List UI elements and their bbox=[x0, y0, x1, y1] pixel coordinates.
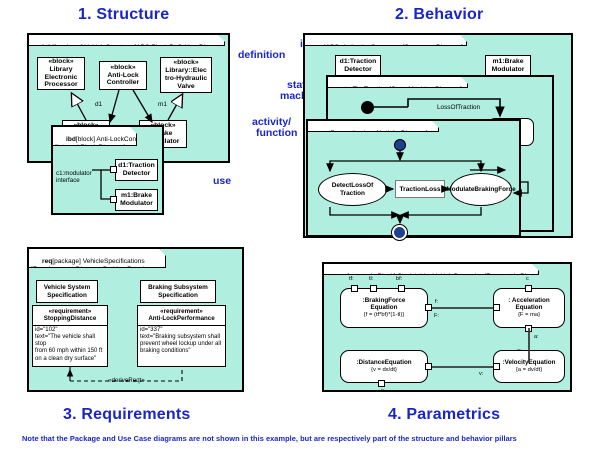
sd-lifeline-1-name: m1:Brake Modulator bbox=[492, 58, 525, 74]
req-item-1-name: Anti-LockPerformance bbox=[139, 315, 224, 322]
par-port-label-bf: bf: bbox=[396, 276, 402, 282]
bdd-block-2-name: Library::Elec tro-Hydraulic Valve bbox=[165, 67, 207, 90]
bdd-edge-label-m1: m1 bbox=[158, 101, 167, 108]
activity-object-node-traction-loss[interactable]: TractionLoss bbox=[395, 180, 445, 198]
par-port-tf[interactable] bbox=[351, 285, 358, 292]
annotation-definition: definition bbox=[238, 50, 285, 62]
par-constraint-1-equation: {F = ma} bbox=[518, 312, 540, 320]
bdd-block-0-name: Library Electronic Processor bbox=[44, 66, 77, 89]
requirement-stopping-distance[interactable]: «requirement» StoppingDistance id="102" … bbox=[32, 305, 108, 367]
bdd-header-text: [package] VehicleStructure [ABS-Block De… bbox=[54, 44, 226, 51]
req-item-0-head: «requirement» StoppingDistance bbox=[33, 306, 107, 326]
ibd-port-traction[interactable] bbox=[110, 166, 117, 173]
bdd-block-2-stereotype: «block» bbox=[173, 59, 198, 67]
pillar-title-requirements: 3. Requirements bbox=[63, 406, 190, 424]
sd-lifeline-0-name: d1:Traction Detector bbox=[340, 58, 377, 74]
req-package-1-name: Braking Subsystem Specification bbox=[148, 284, 208, 299]
activity-object-node-label: TractionLoss bbox=[399, 186, 440, 193]
par-constraint-3-name: :VelocityEquation bbox=[503, 359, 556, 367]
par-port-f-out[interactable] bbox=[425, 304, 432, 311]
req-item-1-head: «requirement» Anti-LockPerformance bbox=[138, 306, 225, 326]
bdd-block-anti-lock-controller[interactable]: «block» Anti-Lock Controller bbox=[99, 61, 147, 90]
par-port-label-c: c bbox=[526, 276, 529, 282]
par-port-tl[interactable] bbox=[370, 285, 377, 292]
activity-initial-node-icon bbox=[394, 139, 406, 151]
diagram-canvas: 1. Structure 2. Behavior 3. Requirements… bbox=[0, 0, 600, 450]
par-header-text: [constraintBlock] StraightLineVehicleDyn… bbox=[347, 273, 547, 280]
par-port-v-right[interactable] bbox=[493, 363, 500, 370]
par-port-c[interactable] bbox=[525, 285, 532, 292]
par-binding-label-a-upper: a: bbox=[534, 334, 539, 340]
bdd-kind: bdd bbox=[42, 44, 54, 51]
sequence-lifeline-head-brake-modulator[interactable]: m1:Brake Modulator bbox=[485, 55, 531, 77]
bdd-edge-label-d1: d1 bbox=[95, 101, 102, 108]
par-port-label-tl: tl: bbox=[369, 276, 373, 282]
bdd-block-1-stereotype: «block» bbox=[110, 64, 135, 72]
par-port-label-tf: tf: bbox=[349, 276, 354, 282]
act-kind: act bbox=[321, 130, 331, 137]
constraint-velocity-equation[interactable]: :VelocityEquation {a = dv/dt} bbox=[493, 350, 565, 383]
activity-action-detect-loss-of-traction[interactable]: DetectLossOf Traction bbox=[318, 173, 387, 206]
par-constraint-0-name: :BrakingForce Equation bbox=[363, 297, 406, 312]
ibd-part-traction-detector[interactable]: d1:Traction Detector bbox=[115, 159, 158, 181]
par-port-x[interactable] bbox=[378, 380, 385, 387]
activity-final-node-icon bbox=[394, 227, 405, 238]
ibd-part-1-name: m1:Brake Modulator bbox=[120, 192, 153, 208]
stm-frame-header: stmTireTraction [State Machine Diagram] bbox=[328, 77, 468, 88]
annotation-activity-2: function bbox=[256, 128, 297, 140]
par-binding-label-F: F: bbox=[434, 313, 439, 319]
bdd-block-electro-hydraulic-valve[interactable]: «block» Library::Elec tro-Hydraulic Valv… bbox=[160, 57, 212, 93]
requirements-package-braking-subsystem[interactable]: Braking Subsystem Specification bbox=[140, 280, 216, 303]
pillar-title-structure: 1. Structure bbox=[78, 6, 169, 24]
pillar-title-parametrics: 4. Parametrics bbox=[388, 406, 500, 424]
stm-kind: stm bbox=[341, 86, 353, 93]
ibd-port-label: c1:modulator interface bbox=[56, 170, 92, 184]
constraint-braking-force-equation[interactable]: :BrakingForce Equation {f = (tf*bf)*(1-t… bbox=[340, 288, 428, 328]
req-item-0-name: StoppingDistance bbox=[34, 315, 106, 322]
stm-initial-node-icon bbox=[361, 101, 374, 114]
requirements-package-vehicle-system[interactable]: Vehicle System Specification bbox=[36, 280, 98, 303]
bdd-block-0-stereotype: «block» bbox=[48, 58, 73, 66]
req-item-1-stereotype: «requirement» bbox=[139, 308, 224, 315]
requirement-anti-lock-performance[interactable]: «requirement» Anti-LockPerformance id="3… bbox=[137, 305, 226, 367]
activity-action-modulate-braking-force[interactable]: ModulateBrakingForce bbox=[450, 173, 512, 206]
stm-header-text: TireTraction [State Machine Diagram] bbox=[353, 86, 462, 93]
par-kind: par bbox=[337, 273, 347, 280]
par-constraint-2-equation: {v = dx/dt} bbox=[371, 367, 397, 375]
par-port-label-f: f: bbox=[435, 299, 438, 305]
req-item-1-body: id="337" text="Braking subsystem shall p… bbox=[138, 326, 225, 357]
pillar-title-behavior: 2. Behavior bbox=[395, 6, 483, 24]
constraint-acceleration-equation[interactable]: : Acceleration Equation {F = ma} bbox=[493, 288, 565, 328]
constraint-distance-equation[interactable]: :DistanceEquation {v = dx/dt} bbox=[340, 350, 428, 383]
par-port-label-x: x bbox=[381, 388, 384, 394]
req-header-text: [package] VehicleSpecifications [Require… bbox=[31, 258, 170, 273]
bdd-block-library-electronic-processor[interactable]: «block» Library Electronic Processor bbox=[37, 57, 85, 90]
bdd-frame-header: bdd[package] VehicleStructure [ABS-Block… bbox=[29, 35, 225, 46]
activity-action-1-name: ModulateBrakingForce bbox=[446, 186, 515, 193]
par-constraint-1-name: : Acceleration Equation bbox=[508, 297, 549, 312]
sd-kind: sd bbox=[318, 44, 326, 51]
ibd-kind: ibd bbox=[66, 136, 76, 143]
par-frame-header: par[constraintBlock] StraightLineVehicle… bbox=[324, 264, 539, 275]
requirements-relation-label: «deriveReqt» bbox=[108, 377, 145, 384]
ibd-part-0-name: d1:Traction Detector bbox=[118, 162, 155, 178]
ibd-port-modulator[interactable] bbox=[110, 196, 117, 203]
par-port-a-out[interactable] bbox=[525, 325, 532, 332]
par-constraint-2-name: :DistanceEquation bbox=[356, 359, 411, 367]
par-binding-label-v: v: bbox=[479, 371, 483, 377]
ibd-frame-header: ibd[block] Anti-LockController [Internal… bbox=[53, 127, 137, 146]
bdd-block-1-name: Anti-Lock Controller bbox=[107, 72, 139, 88]
par-port-v-left[interactable] bbox=[425, 363, 432, 370]
par-port-bf[interactable] bbox=[398, 285, 405, 292]
req-item-0-stereotype: «requirement» bbox=[34, 308, 106, 315]
ibd-part-brake-modulator[interactable]: m1:Brake Modulator bbox=[115, 189, 158, 211]
par-constraint-0-equation: {f = (tf*bf)*(1-tl)} bbox=[364, 312, 404, 320]
sequence-lifeline-head-traction-detector[interactable]: d1:Traction Detector bbox=[335, 55, 381, 77]
activity-action-0-name: DetectLossOf Traction bbox=[332, 182, 374, 197]
req-item-0-body: id="102" text="The vehicle shall stop fr… bbox=[33, 326, 107, 364]
req-frame-header: req[package] VehicleSpecifications [Requ… bbox=[29, 249, 166, 268]
par-constraint-3-equation: {a = dv/dt} bbox=[516, 367, 542, 375]
stm-transition-label: LossOfTraction bbox=[437, 104, 480, 111]
act-header-text: PreventLockup [Activity Diagram] bbox=[331, 130, 428, 137]
sd-header-text: ABS_ActivationSequence [Sequence Diagram… bbox=[326, 44, 463, 51]
req-kind: req bbox=[42, 258, 52, 265]
sequence-frame-header: sdABS_ActivationSequence [Sequence Diagr… bbox=[305, 35, 467, 46]
footnote-text: Note that the Package and Use Case diagr… bbox=[22, 434, 517, 443]
par-port-F-in[interactable] bbox=[493, 304, 500, 311]
act-frame-header: actPreventLockup [Activity Diagram] bbox=[308, 121, 439, 132]
req-package-0-name: Vehicle System Specification bbox=[44, 284, 91, 299]
annotation-use: use bbox=[213, 176, 231, 188]
